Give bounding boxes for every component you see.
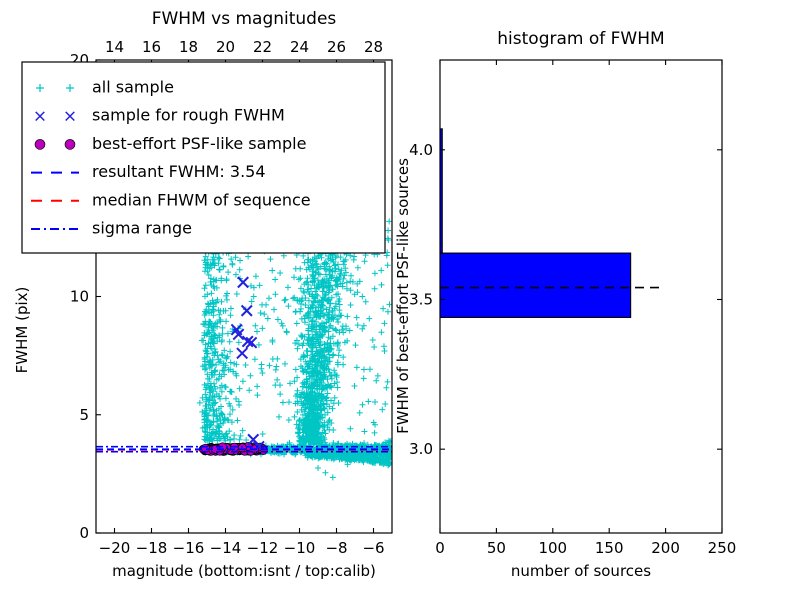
ytick-label: 3.0	[409, 440, 433, 458]
left-xaxis-label: magnitude (bottom:isnt / top:calib)	[112, 562, 376, 580]
xtick-label: 100	[538, 539, 567, 557]
right-panel: histogram of FWHM 050100150200250 3.03.5…	[394, 29, 736, 580]
legend-label: best-effort PSF-like sample	[92, 134, 306, 153]
legend-label: sample for rough FWHM	[92, 106, 285, 125]
figure-canvas: FWHM vs magnitudes −20−18−16−14−12−10−8−…	[0, 0, 800, 600]
xtick-label-top: 20	[216, 38, 235, 56]
xtick-label: −6	[362, 539, 384, 557]
ytick-label: 0	[79, 524, 89, 542]
xtick-label-top: 18	[179, 38, 198, 56]
xtick-label: 250	[708, 539, 737, 557]
xtick-label-top: 16	[142, 38, 161, 56]
xtick-label: −16	[173, 539, 205, 557]
xtick-label: 150	[595, 539, 624, 557]
ytick-label: 10	[70, 288, 89, 306]
legend-label: sigma range	[92, 219, 192, 238]
ytick-label: 4.0	[409, 141, 433, 159]
legend-circle-marker	[35, 139, 45, 149]
xtick-label: −8	[325, 539, 347, 557]
ytick-label: 3.5	[409, 290, 433, 308]
legend-label: all sample	[92, 78, 174, 97]
legend-label: resultant FWHM: 3.54	[92, 162, 266, 181]
legend-frame	[22, 62, 385, 253]
xtick-label: −12	[247, 539, 279, 557]
xtick-label: 200	[651, 539, 680, 557]
left-yaxis-label: FWHM (pix)	[13, 287, 31, 374]
xtick-label: −14	[210, 539, 242, 557]
right-panel-title: histogram of FWHM	[497, 29, 664, 49]
legend-circle-marker	[65, 139, 75, 149]
xtick-label: −18	[136, 539, 168, 557]
right-xaxis-label: number of sources	[511, 562, 651, 580]
xtick-label-top: 26	[327, 38, 346, 56]
left-panel-title: FWHM vs magnitudes	[152, 9, 337, 29]
xtick-label: −20	[99, 539, 131, 557]
legend-label: median FHWM of sequence	[92, 190, 311, 209]
legend-box[interactable]: all samplesample for rough FWHMbest-effo…	[22, 62, 385, 253]
xtick-label: 0	[435, 539, 445, 557]
histogram-bar	[440, 253, 631, 317]
xtick-label-top: 28	[364, 38, 383, 56]
xtick-label: 50	[487, 539, 506, 557]
xtick-label-top: 22	[253, 38, 272, 56]
xtick-label: −10	[284, 539, 316, 557]
right-yaxis-label: FWHM of best-effort PSF-like sources	[394, 158, 412, 434]
xtick-label-top: 14	[105, 38, 124, 56]
ytick-label: 5	[79, 406, 89, 424]
xtick-label-top: 24	[290, 38, 309, 56]
